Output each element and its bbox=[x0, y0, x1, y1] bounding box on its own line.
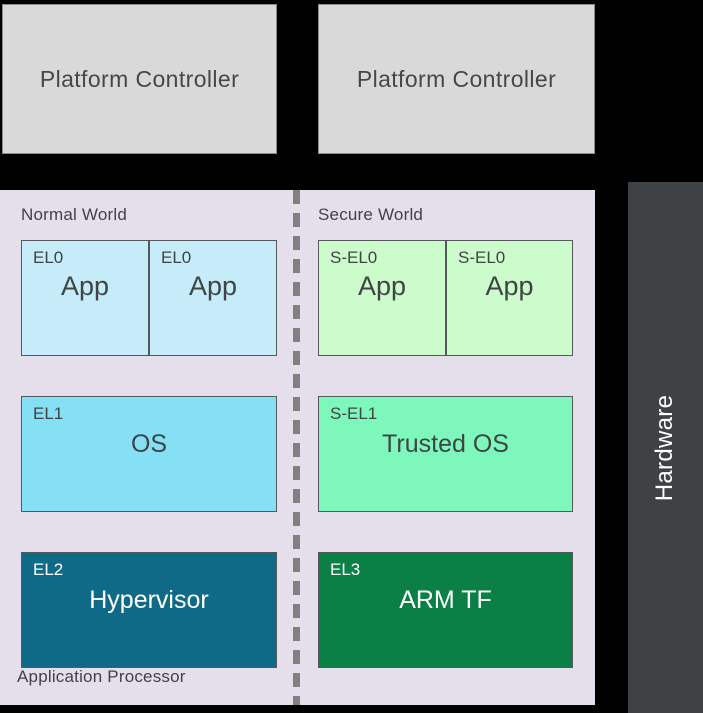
exception-level-tag: EL0 bbox=[33, 248, 63, 268]
layer-title: App bbox=[447, 271, 572, 302]
platform-controller-box-2: Platform Controller bbox=[318, 4, 595, 154]
layer-box-normal-os: EL1 OS bbox=[21, 396, 277, 512]
layer-title: App bbox=[150, 271, 276, 302]
diagram-canvas: Platform Controller Platform Controller … bbox=[0, 0, 703, 713]
layer-box-normal-app-1: EL0 App bbox=[21, 240, 149, 356]
layer-title: OS bbox=[22, 430, 276, 459]
layer-box-secure-app-2: S-EL0 App bbox=[446, 240, 573, 356]
exception-level-tag: EL0 bbox=[161, 248, 191, 268]
layer-box-normal-app-2: EL0 App bbox=[149, 240, 277, 356]
hardware-strip: Hardware bbox=[628, 182, 703, 713]
platform-controller-label-2: Platform Controller bbox=[357, 66, 556, 93]
exception-level-tag: S-EL0 bbox=[330, 248, 377, 268]
application-processor-label: Application Processor bbox=[17, 667, 186, 687]
secure-world-label: Secure World bbox=[318, 205, 423, 225]
layer-title: Trusted OS bbox=[319, 430, 572, 459]
layer-title: App bbox=[319, 271, 445, 302]
layer-box-secure-trusted-os: S-EL1 Trusted OS bbox=[318, 396, 573, 512]
exception-level-tag: EL1 bbox=[33, 404, 63, 424]
layer-title: ARM TF bbox=[319, 586, 572, 615]
exception-level-tag: S-EL0 bbox=[458, 248, 505, 268]
exception-level-tag: EL2 bbox=[33, 560, 63, 580]
platform-controller-label-1: Platform Controller bbox=[40, 66, 239, 93]
layer-box-hypervisor: EL2 Hypervisor bbox=[21, 552, 277, 668]
layer-box-arm-trusted-firmware: EL3 ARM TF bbox=[318, 552, 573, 668]
hardware-label: Hardware bbox=[652, 394, 680, 500]
world-divider-dashed-line bbox=[293, 190, 300, 705]
normal-world-label: Normal World bbox=[21, 205, 127, 225]
exception-level-tag: S-EL1 bbox=[330, 404, 377, 424]
layer-box-secure-app-1: S-EL0 App bbox=[318, 240, 446, 356]
exception-level-tag: EL3 bbox=[330, 560, 360, 580]
layer-title: Hypervisor bbox=[22, 586, 276, 615]
layer-title: App bbox=[22, 271, 148, 302]
platform-controller-box-1: Platform Controller bbox=[2, 4, 277, 154]
